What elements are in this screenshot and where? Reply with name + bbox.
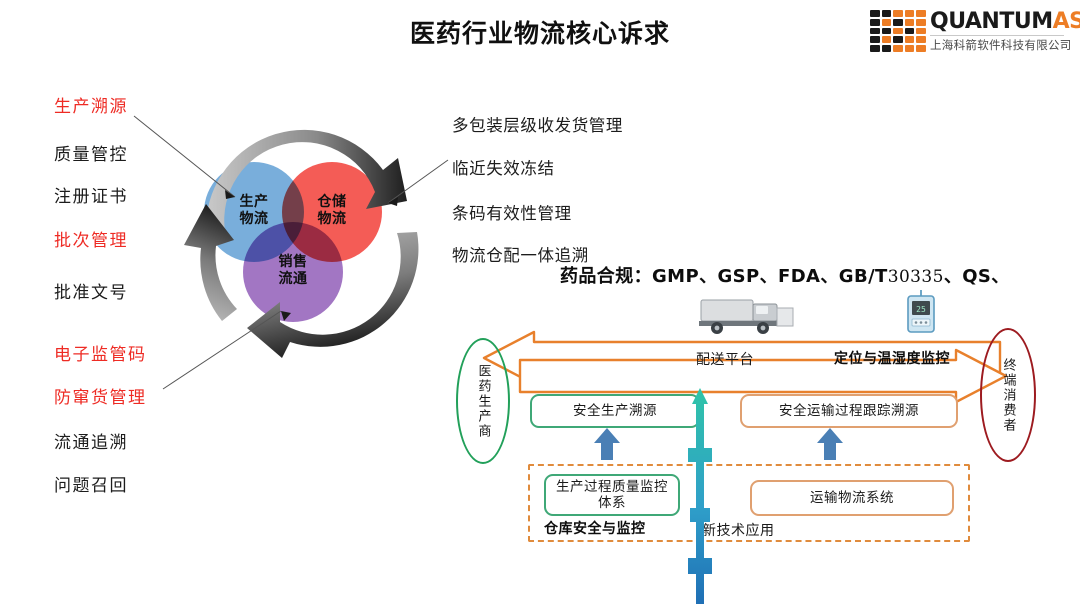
connector-arrowhead-production <box>225 190 235 199</box>
connector-arrowhead-sales <box>281 311 291 321</box>
slide-canvas: 医药行业物流核心诉求 QUANTUMASIA 上海科箭软件科技有限公司 生产溯源… <box>0 0 1080 604</box>
connector-lines <box>0 0 1080 604</box>
connector-to-production <box>134 116 235 197</box>
connector-to-warehouse <box>388 160 448 203</box>
connector-to-sales <box>163 311 281 389</box>
